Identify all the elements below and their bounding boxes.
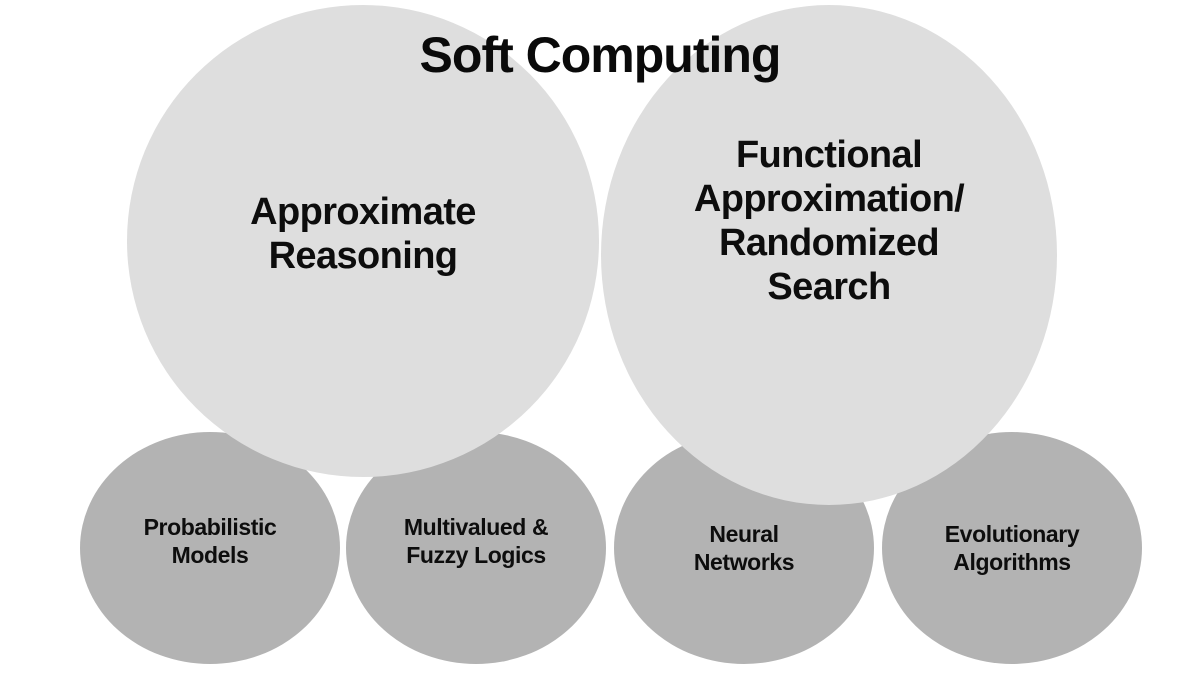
main-node-label-approximate-reasoning: Approximate Reasoning bbox=[127, 190, 599, 278]
diagram-canvas: Soft Computing Approximate Reasoning Fun… bbox=[0, 0, 1200, 675]
sub-node-label-probabilistic-models: Probabilistic Models bbox=[80, 513, 340, 569]
sub-node-label-multivalued-fuzzy-logics: Multivalued & Fuzzy Logics bbox=[346, 513, 606, 569]
main-node-label-functional-approximation-randomized-search: Functional Approximation/ Randomized Sea… bbox=[601, 133, 1057, 309]
sub-node-label-evolutionary-algorithms: Evolutionary Algorithms bbox=[882, 520, 1142, 576]
sub-node-label-neural-networks: Neural Networks bbox=[614, 520, 874, 576]
page-title: Soft Computing bbox=[0, 26, 1200, 84]
label-layer: Soft Computing Approximate Reasoning Fun… bbox=[0, 0, 1200, 675]
